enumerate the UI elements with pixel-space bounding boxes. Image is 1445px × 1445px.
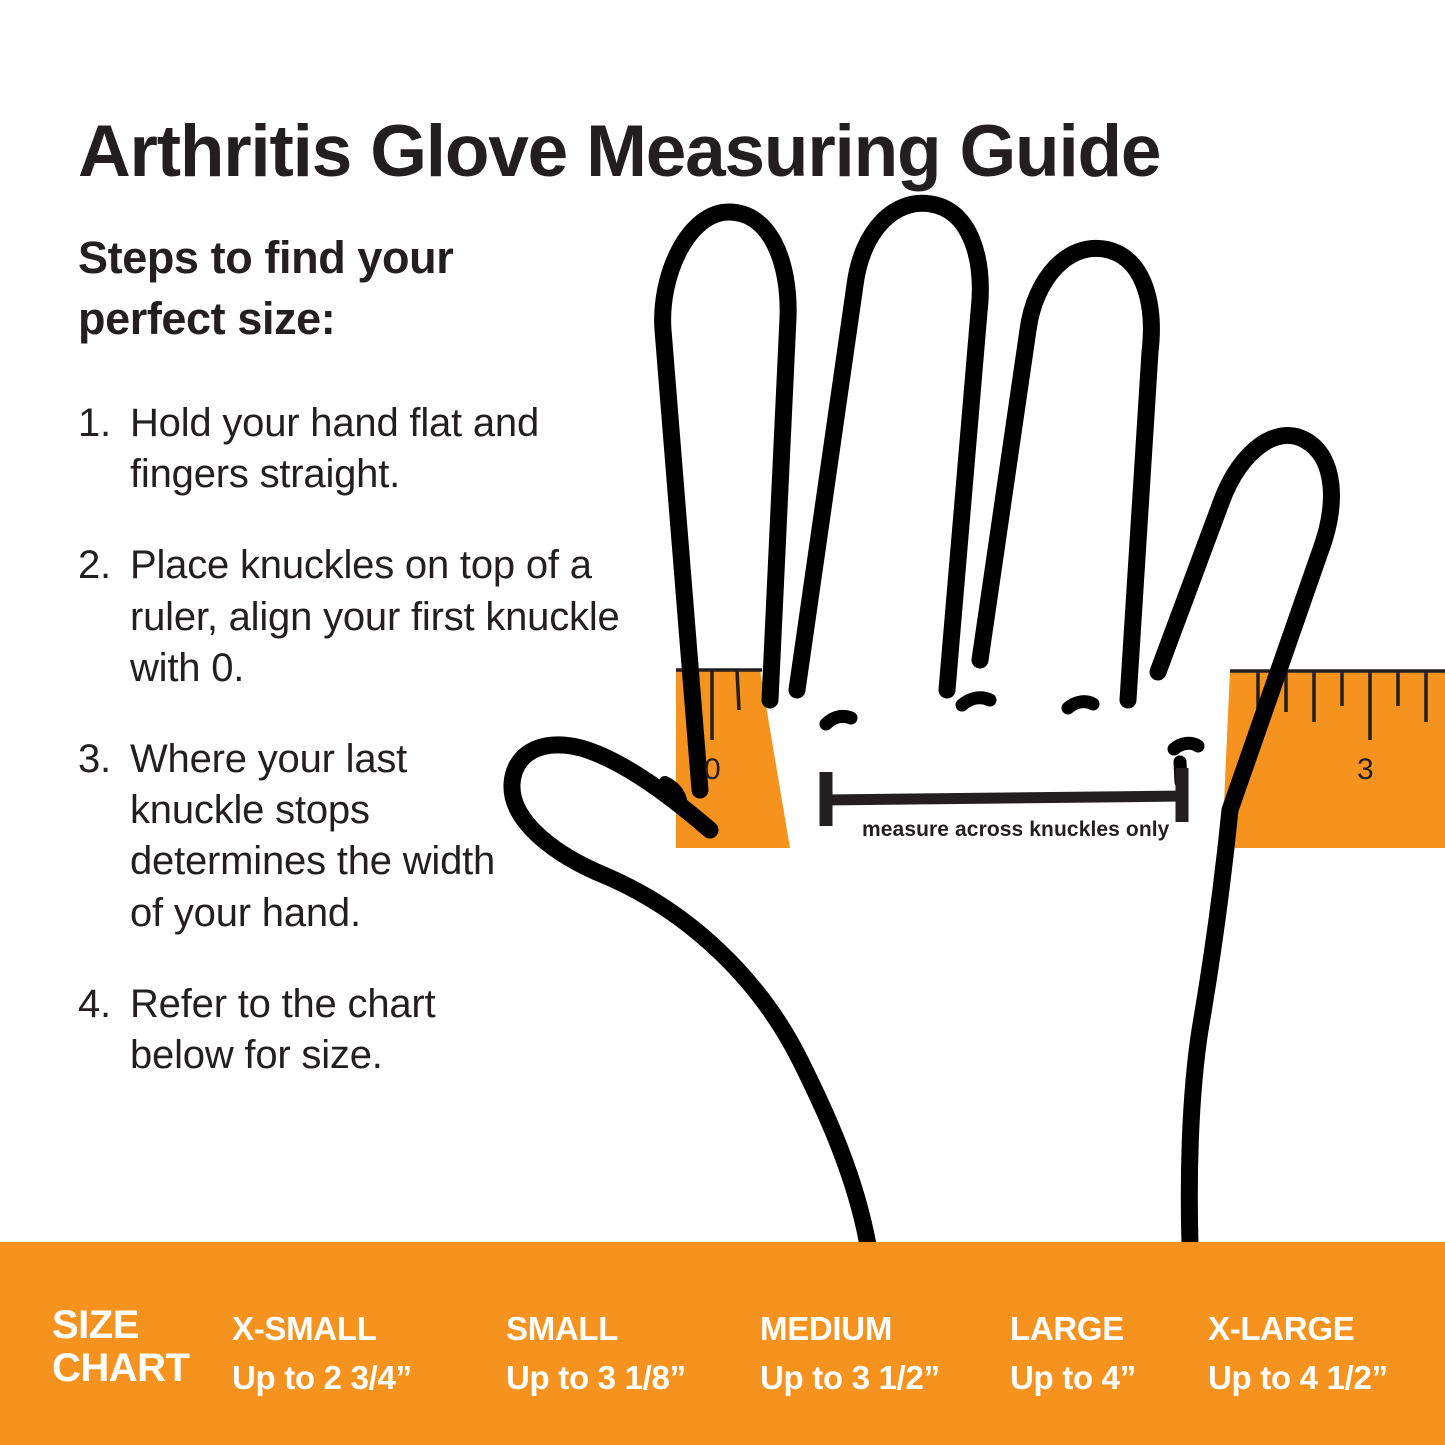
steps-heading-line1: Steps to find your <box>78 228 558 289</box>
steps-heading: Steps to find your perfect size: <box>78 228 558 350</box>
measuring-guide-page: 0 3 measure across knuckles only Arthrit… <box>0 0 1445 1445</box>
size-value: Up to 3 1/2” <box>760 1361 940 1394</box>
size-column-x-small: X-SMALL Up to 2 3/4” <box>232 1312 412 1394</box>
size-name: LARGE <box>1010 1312 1136 1345</box>
size-column-x-large: X-LARGE Up to 4 1/2” <box>1208 1312 1388 1394</box>
size-name: MEDIUM <box>760 1312 940 1345</box>
step-text: Place knuckles on top of a ruler, align … <box>130 540 623 694</box>
size-name: X-LARGE <box>1208 1312 1388 1345</box>
size-column-medium: MEDIUM Up to 3 1/2” <box>760 1312 940 1394</box>
step-text: Refer to the chart below for size. <box>130 979 498 1081</box>
step-number: 3. <box>78 734 130 939</box>
steps-list: 1. Hold your hand flat and fingers strai… <box>78 398 623 1121</box>
measure-across-knuckles-caption: measure across knuckles only <box>862 818 1169 842</box>
size-column-large: LARGE Up to 4” <box>1010 1312 1136 1394</box>
list-item: 3. Where your last knuckle stops determi… <box>78 734 518 939</box>
steps-heading-line2: perfect size: <box>78 289 558 350</box>
step-text: Where your last knuckle stops determines… <box>130 734 518 939</box>
size-chart-label: SIZE CHART <box>52 1304 189 1390</box>
hand-outline <box>512 203 1331 1245</box>
size-value: Up to 4 1/2” <box>1208 1361 1388 1394</box>
ruler-label-three: 3 <box>1357 753 1374 787</box>
size-value: Up to 4” <box>1010 1361 1136 1394</box>
size-name: SMALL <box>506 1312 686 1345</box>
step-number: 1. <box>78 398 130 500</box>
size-name: X-SMALL <box>232 1312 412 1345</box>
size-chart-label-line2: CHART <box>52 1347 189 1390</box>
step-number: 4. <box>78 979 130 1081</box>
size-value: Up to 2 3/4” <box>232 1361 412 1394</box>
list-item: 1. Hold your hand flat and fingers strai… <box>78 398 598 500</box>
ruler-label-zero: 0 <box>704 753 721 787</box>
knuckle-marks <box>826 698 1198 749</box>
size-value: Up to 3 1/8” <box>506 1361 686 1394</box>
step-text: Hold your hand flat and fingers straight… <box>130 398 598 500</box>
list-item: 2. Place knuckles on top of a ruler, ali… <box>78 540 623 694</box>
list-item: 4. Refer to the chart below for size. <box>78 979 498 1081</box>
size-column-small: SMALL Up to 3 1/8” <box>506 1312 686 1394</box>
size-chart-label-line1: SIZE <box>52 1304 189 1347</box>
step-number: 2. <box>78 540 130 694</box>
page-title: Arthritis Glove Measuring Guide <box>78 115 1398 188</box>
